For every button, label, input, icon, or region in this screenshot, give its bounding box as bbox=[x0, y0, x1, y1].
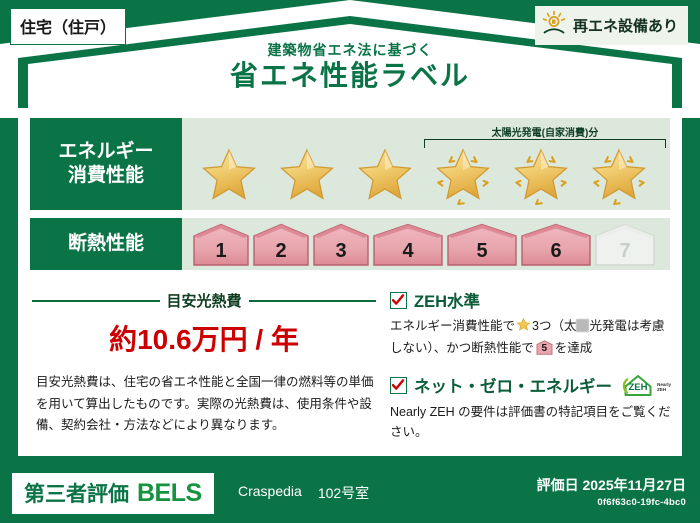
utility-cost-section: 目安光熱費 約10.6万円 / 年 目安光熱費は、住宅の省エネ性能と全国一律の燃… bbox=[32, 290, 376, 437]
insulation-level-num: 6 bbox=[550, 240, 561, 267]
star-solid bbox=[190, 146, 268, 208]
performance-rows: エネルギー 消費性能 太陽光発電(自家消費)分 bbox=[30, 118, 670, 284]
zeh-nearly-house-icon: ZEH Nearly ZEH bbox=[621, 373, 679, 398]
zeh-body-part1: エネルギー消費性能で bbox=[390, 319, 515, 333]
title-main: 省エネ性能ラベル bbox=[0, 61, 700, 90]
zeh-body-part4: を達成 bbox=[555, 341, 593, 355]
insulation-level-num: 5 bbox=[476, 240, 487, 267]
inline-star-icon bbox=[516, 321, 531, 335]
net-zero-energy-block: ネット・ゼロ・エネルギー ZEH Nearly ZEH Nearly ZEH の… bbox=[390, 373, 676, 443]
rule-left bbox=[32, 300, 160, 302]
bels-en-label: BELS bbox=[137, 479, 202, 508]
label-title: 建築物省エネ法に基づく 省エネ性能ラベル bbox=[0, 40, 700, 90]
insulation-level-num: 1 bbox=[215, 240, 226, 267]
inline-insulation-badge: 5 bbox=[536, 340, 553, 361]
energy-label-line2: 消費性能 bbox=[68, 164, 144, 188]
zeh-section: ZEH水準 エネルギー消費性能で3つ（太光発電は考慮しない）、かつ断熱性能で5を… bbox=[390, 288, 676, 453]
zeh-body-star-count: 3つ bbox=[532, 319, 551, 333]
insulation-level-scale: 1 2 bbox=[192, 221, 662, 267]
net-zero-energy-title: ネット・ゼロ・エネルギー bbox=[414, 373, 612, 397]
energy-label-line1: エネルギー bbox=[58, 140, 153, 164]
solar-sun-icon bbox=[541, 10, 567, 41]
net-zero-energy-checkbox[interactable] bbox=[390, 377, 407, 394]
rule-right bbox=[249, 300, 377, 302]
renewable-energy-badge: 再エネ設備あり bbox=[535, 6, 688, 45]
utility-cost-value: 約10.6万円 / 年 bbox=[32, 318, 376, 358]
footer-eval-date: 評価日 2025年11月27日 bbox=[537, 475, 686, 495]
bels-certification-box: 第三者評価 BELS bbox=[12, 473, 214, 514]
bels-jp-label: 第三者評価 bbox=[24, 478, 129, 508]
label-footer: 第三者評価 BELS Craspedia 102号室 評価日 2025年11月2… bbox=[0, 463, 700, 523]
svg-text:ZEH: ZEH bbox=[657, 387, 667, 392]
zeh-standard-body: エネルギー消費性能で3つ（太光発電は考慮しない）、かつ断熱性能で5を達成 bbox=[390, 316, 676, 362]
insulation-level-num: 7 bbox=[619, 240, 630, 267]
insulation-level-4: 4 bbox=[372, 223, 444, 267]
insulation-level-5: 5 bbox=[446, 223, 518, 267]
energy-performance-label: 住宅（住戸） 再エネ設備あり 建築物省エネ法に基づく 省エネ性能ラベル bbox=[0, 0, 700, 523]
zeh-standard-title: ZEH水準 bbox=[414, 288, 480, 312]
insulation-performance-value: 1 2 bbox=[182, 218, 670, 270]
zeh-standard-block: ZEH水準 エネルギー消費性能で3つ（太光発電は考慮しない）、かつ断熱性能で5を… bbox=[390, 288, 676, 362]
footer-eval-date-label: 評価日 bbox=[537, 477, 579, 493]
renewable-badge-label: 再エネ設備あり bbox=[573, 15, 678, 36]
footer-building-name: Craspedia bbox=[238, 483, 302, 503]
net-zero-energy-header: ネット・ゼロ・エネルギー ZEH Nearly ZEH bbox=[390, 373, 676, 398]
star-solid bbox=[268, 146, 346, 208]
zeh-body-part2: （太 bbox=[551, 319, 576, 333]
footer-certificate-id: 0f6f63c0-19fc-4bc0 bbox=[537, 497, 686, 508]
inline-insulation-badge-num: 5 bbox=[536, 340, 553, 355]
insulation-level-3: 3 bbox=[312, 223, 370, 267]
insulation-performance-label: 断熱性能 bbox=[30, 218, 182, 270]
category-tag: 住宅（住戸） bbox=[10, 8, 126, 45]
utility-cost-heading-text: 目安光熱費 bbox=[167, 290, 242, 311]
insulation-level-num: 3 bbox=[335, 240, 346, 267]
utility-cost-note: 目安光熱費は、住宅の省エネ性能と全国一律の燃料等の単価を用いて算出したものです。… bbox=[32, 372, 376, 437]
energy-star-rating bbox=[190, 146, 662, 208]
svg-text:ZEH: ZEH bbox=[629, 382, 648, 393]
solar-bracket-label: 太陽光発電(自家消費)分 bbox=[422, 124, 668, 139]
footer-eval-date-value: 2025年11月27日 bbox=[582, 477, 686, 493]
insulation-level-num: 2 bbox=[275, 240, 286, 267]
star-solid bbox=[346, 146, 424, 208]
star-solar bbox=[580, 146, 658, 208]
footer-property-info: Craspedia 102号室 bbox=[238, 483, 369, 503]
star-solar bbox=[502, 146, 580, 208]
footer-room-number: 102号室 bbox=[318, 483, 369, 503]
energy-performance-value: 太陽光発電(自家消費)分 bbox=[182, 118, 670, 210]
star-solar bbox=[424, 146, 502, 208]
footer-evaluation-info: 評価日 2025年11月27日 0f6f63c0-19fc-4bc0 bbox=[537, 475, 686, 508]
utility-cost-heading: 目安光熱費 bbox=[32, 290, 376, 311]
insulation-level-2: 2 bbox=[252, 223, 310, 267]
energy-performance-row: エネルギー 消費性能 太陽光発電(自家消費)分 bbox=[30, 118, 670, 210]
insulation-level-1: 1 bbox=[192, 223, 250, 267]
insulation-level-num: 4 bbox=[402, 240, 413, 267]
label-body-panel: エネルギー 消費性能 太陽光発電(自家消費)分 bbox=[18, 108, 682, 456]
zeh-standard-checkbox[interactable] bbox=[390, 292, 407, 309]
energy-performance-label: エネルギー 消費性能 bbox=[30, 118, 182, 210]
zeh-standard-header: ZEH水準 bbox=[390, 288, 676, 312]
insulation-performance-row: 断熱性能 1 bbox=[30, 218, 670, 270]
redacted-character bbox=[576, 319, 589, 332]
net-zero-energy-body: Nearly ZEH の要件は評価書の特記項目をご覧ください。 bbox=[390, 402, 676, 443]
insulation-level-7: 7 bbox=[594, 223, 656, 267]
insulation-level-6: 6 bbox=[520, 223, 592, 267]
